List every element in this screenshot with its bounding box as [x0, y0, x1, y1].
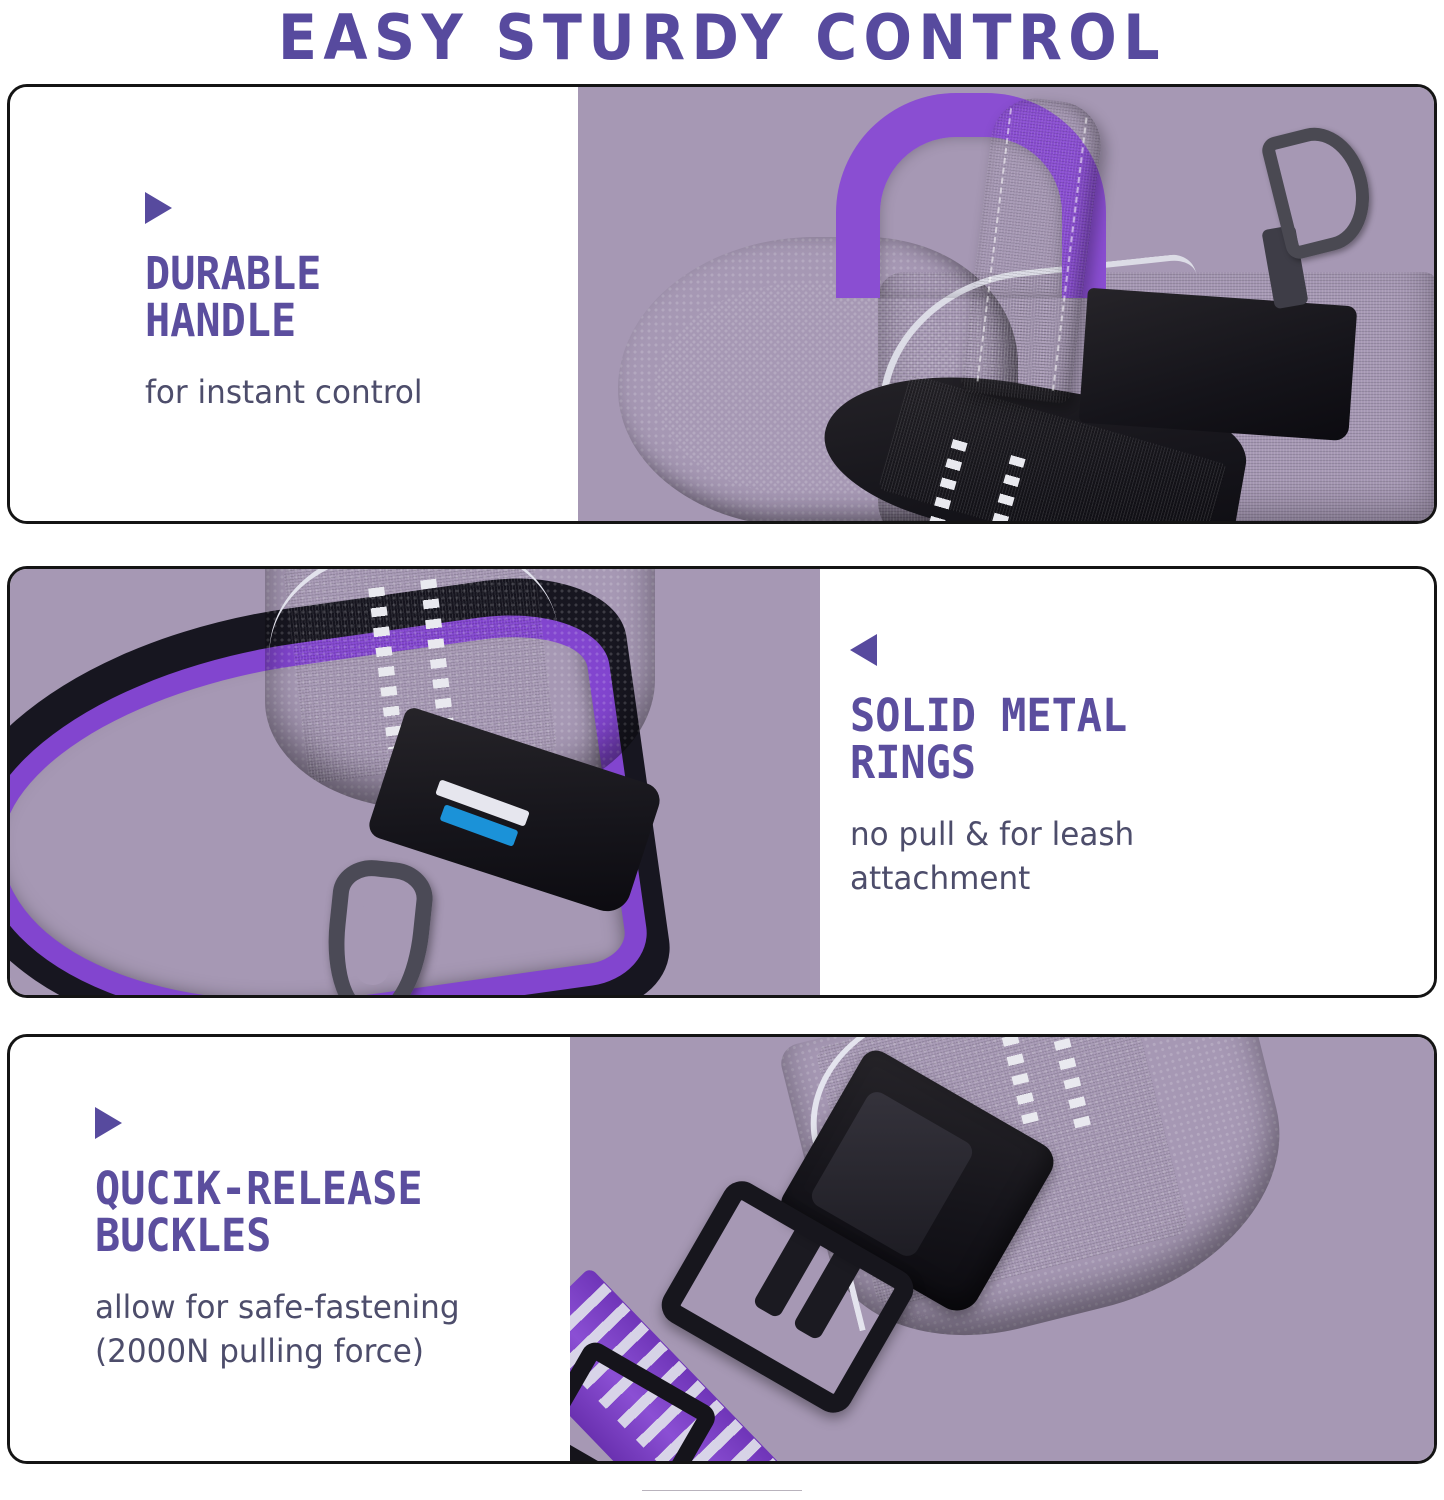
page-title: EASY STURDY CONTROL [58, 0, 1386, 74]
panel-3-text-side: QUCIK-RELEASE BUCKLES allow for safe-fas… [10, 1037, 570, 1461]
panel-3-product-photo [570, 1037, 1434, 1461]
triangle-left-icon [850, 634, 877, 666]
feature-panel-solid-metal-rings: SOLID METAL RINGS no pull & for leash at… [7, 566, 1437, 998]
panel-2-product-photo [10, 569, 820, 995]
panel-1-text-side: DURABLE HANDLE for instant control [10, 87, 578, 521]
panel-3-subtitle: allow for safe-fastening (2000N pulling … [95, 1285, 460, 1373]
feature-panel-durable-handle: DURABLE HANDLE for instant control [7, 84, 1437, 524]
bottom-divider [642, 1490, 802, 1491]
panel-1-subtitle: for instant control [145, 370, 423, 414]
infographic-page: EASY STURDY CONTROL DURABLE HANDLE for i… [0, 0, 1444, 1500]
triangle-right-icon [145, 192, 172, 224]
harness-velcro-patch [1079, 288, 1358, 442]
panel-2-text-side: SOLID METAL RINGS no pull & for leash at… [820, 569, 1434, 995]
panel-1-text-block: DURABLE HANDLE for instant control [145, 192, 431, 414]
panel-2-subtitle: no pull & for leash attachment [850, 812, 1139, 900]
panel-2-title: SOLID METAL RINGS [850, 692, 1127, 786]
panel-2-text-block: SOLID METAL RINGS no pull & for leash at… [850, 634, 1148, 900]
panel-3-title: QUCIK-RELEASE BUCKLES [95, 1165, 445, 1259]
panel-1-product-photo [578, 87, 1434, 521]
triangle-right-icon [95, 1107, 122, 1139]
panel-1-title: DURABLE HANDLE [145, 250, 411, 344]
panel-3-text-block: QUCIK-RELEASE BUCKLES allow for safe-fas… [95, 1107, 471, 1373]
feature-panel-quick-release-buckles: QUCIK-RELEASE BUCKLES allow for safe-fas… [7, 1034, 1437, 1464]
